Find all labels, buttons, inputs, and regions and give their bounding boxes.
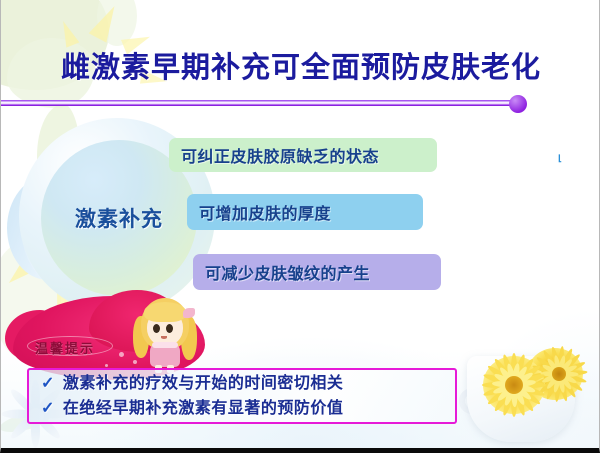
conclusion-row: ✓ 在绝经早期补充激素有显著的预防价值: [41, 396, 449, 421]
divider-line: [1, 100, 525, 106]
conclusion-text: 激素补充的疗效与开始的时间密切相关: [63, 371, 344, 396]
girl-collar: [152, 342, 178, 348]
divider-dot-icon: [509, 95, 527, 113]
sparkle-icon: [105, 364, 108, 367]
sparkle-icon: [119, 352, 124, 357]
tip-badge-label: 温馨提示: [35, 338, 95, 357]
check-icon: ✓: [41, 371, 55, 396]
statement-box-1: 可纠正皮肤胶原缺乏的状态: [169, 138, 437, 172]
conclusion-box: ✓ 激素补充的疗效与开始的时间密切相关 ✓ 在绝经早期补充激素有显著的预防价值: [27, 368, 457, 424]
title-divider: [1, 96, 600, 112]
statement-box-3: 可减少皮肤皱纹的产生: [193, 254, 441, 290]
girl-eye-left: [153, 324, 160, 333]
girl-eye-right: [166, 324, 173, 333]
slide-canvas: 激素补充 雌激素早期补充可全面预防皮肤老化 可纠正皮肤胶原缺乏的状态 可增加皮肤…: [0, 0, 600, 453]
page-title: 雌激素早期补充可全面预防皮肤老化: [1, 44, 600, 86]
girl-hair-bangs: [144, 302, 186, 322]
conclusion-text: 在绝经早期补充激素有显著的预防价值: [63, 396, 344, 421]
check-icon: ✓: [41, 396, 55, 421]
conclusion-row: ✓ 激素补充的疗效与开始的时间密切相关: [41, 371, 449, 396]
stray-mark: լ: [558, 152, 561, 163]
girl-mouth: [161, 336, 167, 339]
girl-hair-bow: [183, 308, 195, 318]
cartoon-girl-icon: [133, 296, 197, 372]
chrysanthemum-icon: [483, 356, 545, 414]
statement-box-2: 可增加皮肤的厚度: [187, 194, 423, 230]
